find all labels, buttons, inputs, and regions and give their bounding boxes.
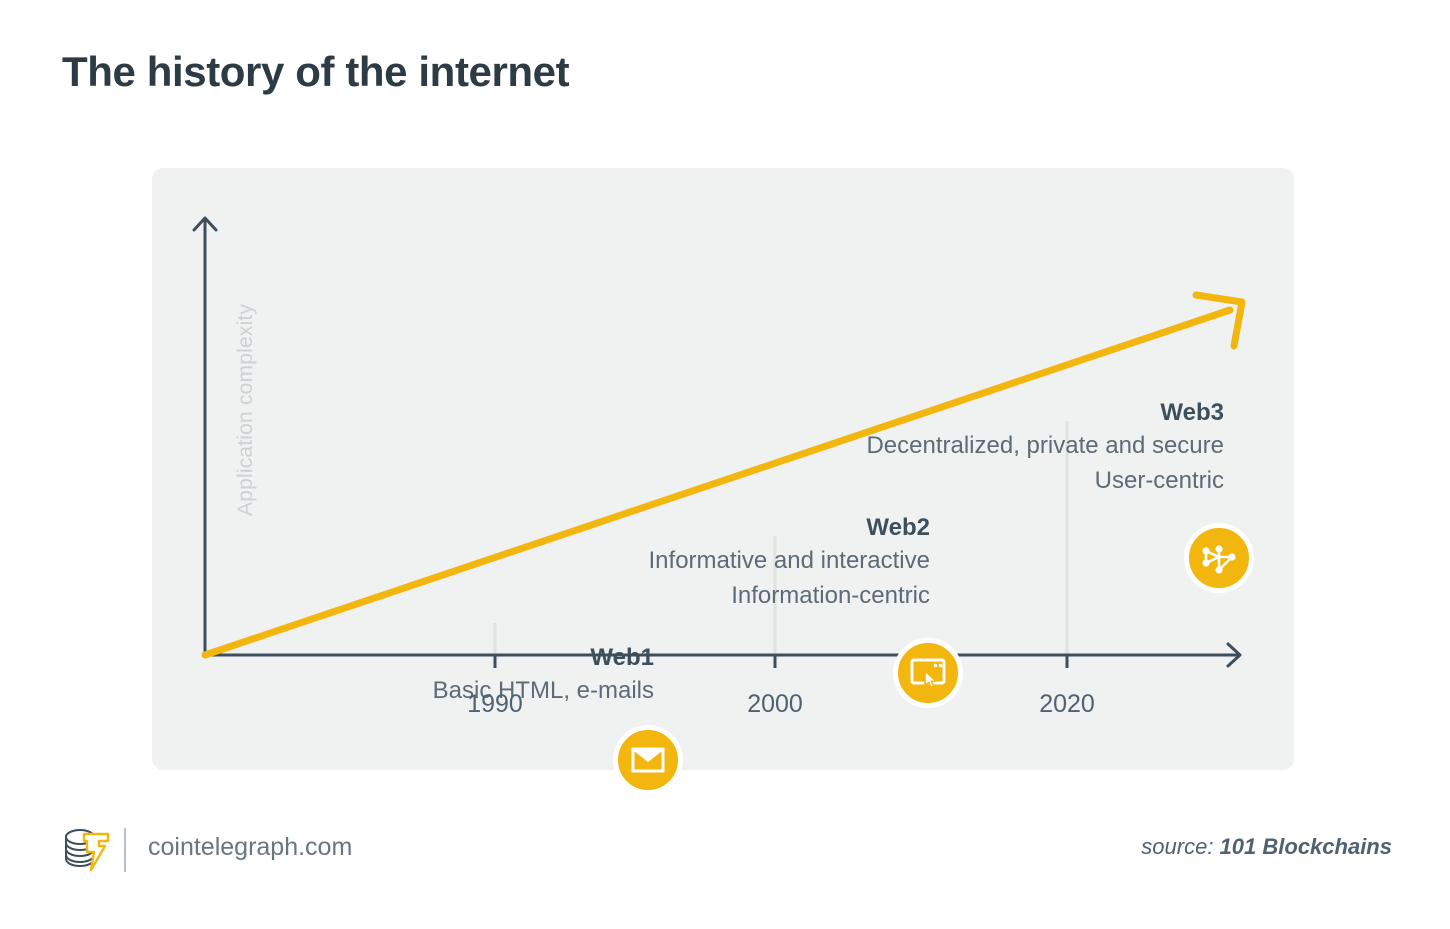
footer-site-label: cointelegraph.com [148, 833, 352, 862]
chart-panel: Application complexity Web1 Basic HTML, … [152, 168, 1294, 770]
stage-web3-title: Web3 [792, 397, 1224, 428]
infographic-page: The history of the internet [0, 0, 1450, 929]
stage-web2-line2: Information-centric [552, 578, 930, 613]
stage-web3: Web3 Decentralized, private and secure U… [792, 397, 1224, 498]
stage-web2-title: Web2 [552, 512, 930, 543]
cointelegraph-logo-icon [60, 826, 112, 874]
milestone-badge-web3 [1184, 523, 1254, 593]
network-nodes-icon [1201, 541, 1237, 575]
x-tick-label-2000: 2000 [715, 690, 835, 719]
page-title: The history of the internet [62, 48, 569, 96]
footer-divider [124, 828, 126, 872]
x-tick-label-1990: 1990 [435, 690, 555, 719]
browser-cursor-icon [910, 658, 946, 688]
footer-source-name: 101 Blockchains [1220, 834, 1392, 859]
chart-area: Application complexity Web1 Basic HTML, … [152, 168, 1294, 770]
milestone-badge-web2 [893, 638, 963, 708]
milestone-badge-web1 [613, 725, 683, 795]
footer-source: source: 101 Blockchains [1141, 834, 1392, 860]
stage-web3-line1: Decentralized, private and secure [792, 428, 1224, 463]
envelope-icon [631, 747, 665, 773]
footer-source-prefix: source: [1141, 834, 1213, 859]
y-axis-label: Application complexity [234, 196, 258, 516]
stage-web1-title: Web1 [292, 642, 654, 673]
x-tick-label-2020: 2020 [1007, 690, 1127, 719]
stage-web2-line1: Informative and interactive [552, 543, 930, 578]
stage-web3-line2: User-centric [792, 463, 1224, 498]
stage-web2: Web2 Informative and interactive Informa… [552, 512, 930, 613]
